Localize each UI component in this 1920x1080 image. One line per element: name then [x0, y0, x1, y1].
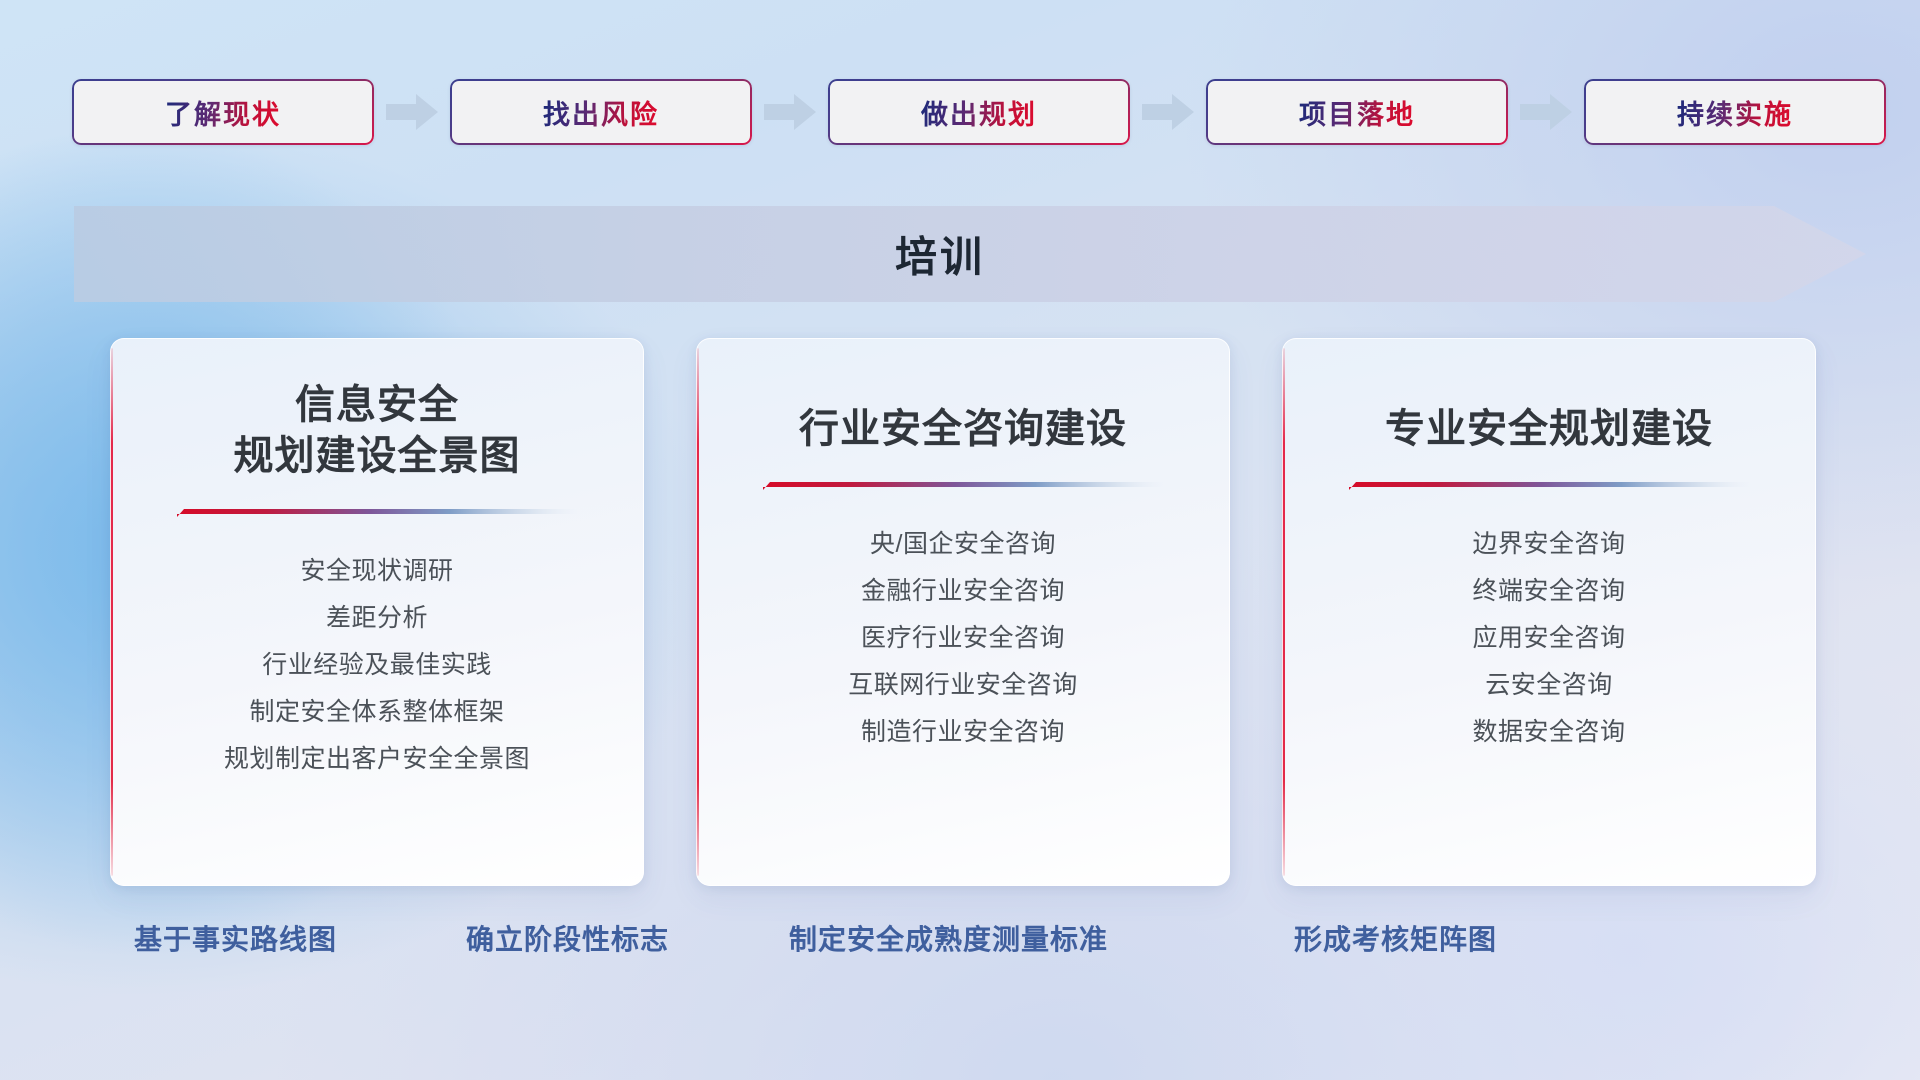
- list-item: 数据安全咨询: [1282, 709, 1816, 756]
- step-box-0[interactable]: 了解现状: [72, 79, 374, 145]
- list-item: 差距分析: [110, 595, 644, 642]
- footnote-2: 制定安全成熟度测量标准: [789, 918, 1108, 958]
- footnotes-row: 基于事实路线图 确立阶段性标志 制定安全成熟度测量标准 形成考核矩阵图: [0, 918, 1920, 972]
- card-title-0: 信息安全 规划建设全景图: [210, 380, 545, 482]
- card-0[interactable]: 信息安全 规划建设全景图 安全现状调研 差距分析 行业经: [110, 338, 644, 886]
- list-item: 行业经验及最佳实践: [110, 642, 644, 689]
- cards-row: 信息安全 规划建设全景图 安全现状调研 差距分析 行业经: [110, 338, 1816, 886]
- list-item: 互联网行业安全咨询: [696, 662, 1230, 709]
- card-divider-1: [763, 481, 1163, 491]
- process-steps: 了解现状 找出风险 做出规划 项目落地 持续实施: [72, 78, 1862, 146]
- step-label-4: 持续实施: [1677, 93, 1793, 132]
- list-item: 边界安全咨询: [1282, 521, 1816, 568]
- step-label-0: 了解现状: [165, 93, 281, 132]
- card-title-2: 专业安全规划建设: [1361, 404, 1737, 455]
- step-label-3: 项目落地: [1299, 93, 1415, 132]
- list-item: 金融行业安全咨询: [696, 568, 1230, 615]
- step-box-1[interactable]: 找出风险: [450, 79, 752, 145]
- list-item: 医疗行业安全咨询: [696, 615, 1230, 662]
- list-item: 安全现状调研: [110, 548, 644, 595]
- right-arrow-icon: [1142, 92, 1194, 132]
- card-1[interactable]: 行业安全咨询建设 央/国企安全咨询 金融行业安全咨询 医: [696, 338, 1230, 886]
- banner-title: 培训: [74, 224, 1866, 285]
- card-title-1: 行业安全咨询建设: [775, 404, 1151, 455]
- footnote-3: 形成考核矩阵图: [1294, 918, 1497, 958]
- step-label-1: 找出风险: [543, 93, 659, 132]
- card-list-2: 边界安全咨询 终端安全咨询 应用安全咨询 云安全咨询 数据安全咨询: [1282, 521, 1816, 756]
- step-box-4[interactable]: 持续实施: [1584, 79, 1886, 145]
- list-item: 应用安全咨询: [1282, 615, 1816, 662]
- list-item: 制定安全体系整体框架: [110, 689, 644, 736]
- list-item: 规划制定出客户安全全景图: [110, 736, 644, 783]
- right-arrow-icon: [386, 92, 438, 132]
- training-banner: 培训: [74, 206, 1866, 302]
- footnote-0: 基于事实路线图: [134, 918, 337, 958]
- right-arrow-icon: [764, 92, 816, 132]
- footnote-1: 确立阶段性标志: [466, 918, 669, 958]
- step-box-3[interactable]: 项目落地: [1206, 79, 1508, 145]
- list-item: 制造行业安全咨询: [696, 709, 1230, 756]
- list-item: 云安全咨询: [1282, 662, 1816, 709]
- card-list-0: 安全现状调研 差距分析 行业经验及最佳实践 制定安全体系整体框架 规划制定出客户…: [110, 548, 644, 783]
- list-item: 终端安全咨询: [1282, 568, 1816, 615]
- right-arrow-icon: [1520, 92, 1572, 132]
- step-label-2: 做出规划: [921, 93, 1037, 132]
- card-divider-0: [177, 508, 577, 518]
- list-item: 央/国企安全咨询: [696, 521, 1230, 568]
- card-list-1: 央/国企安全咨询 金融行业安全咨询 医疗行业安全咨询 互联网行业安全咨询 制造行…: [696, 521, 1230, 756]
- card-divider-2: [1349, 481, 1749, 491]
- slide-root: 了解现状 找出风险 做出规划 项目落地 持续实施: [0, 0, 1920, 1080]
- step-box-2[interactable]: 做出规划: [828, 79, 1130, 145]
- card-2[interactable]: 专业安全规划建设 边界安全咨询 终端安全咨询 应用安全咨: [1282, 338, 1816, 886]
